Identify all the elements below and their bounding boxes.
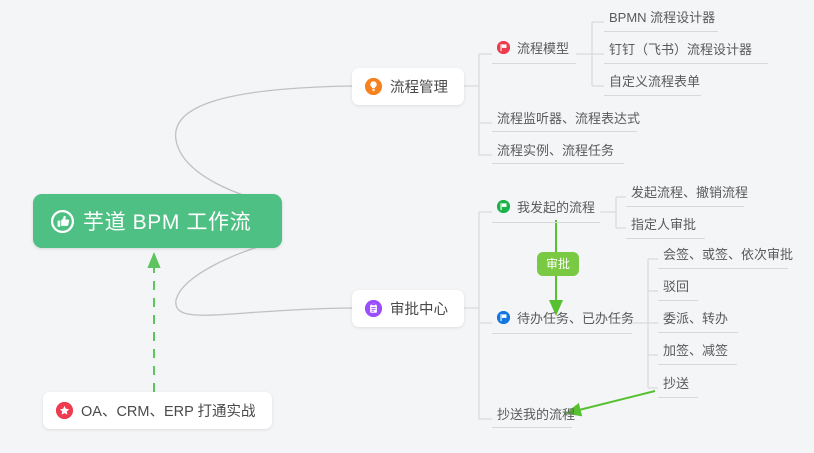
node-underline [658, 300, 698, 301]
node-process-model[interactable]: 流程模型 [492, 38, 579, 62]
mindmap-canvas: 芋道 BPM 工作流 流程管理 审批中心 [0, 0, 814, 453]
node-underline [492, 63, 576, 64]
integration-card-label: OA、CRM、ERP 打通实战 [81, 400, 256, 421]
node-underline [492, 131, 637, 132]
flag-icon [497, 41, 510, 54]
star-icon [56, 402, 73, 419]
node-bpmn-designer[interactable]: BPMN 流程设计器 [604, 7, 725, 31]
thumbs-up-icon [51, 210, 74, 233]
lightbulb-icon [365, 78, 382, 95]
flag-icon [497, 311, 510, 324]
node-dingtalk-designer[interactable]: 钉钉（飞书）流程设计器 [604, 39, 762, 63]
node-label: 钉钉（飞书）流程设计器 [609, 39, 752, 58]
node-label: 抄送 [663, 373, 689, 392]
node-start-cancel-process[interactable]: 发起流程、撤销流程 [626, 182, 758, 206]
node-underline [626, 206, 744, 207]
node-underline [626, 238, 705, 239]
node-my-started-process[interactable]: 我发起的流程 [492, 197, 605, 221]
root-label: 芋道 BPM 工作流 [83, 206, 251, 236]
node-delegate-transfer[interactable]: 委派、转办 [658, 308, 738, 332]
connector-root-to-process-management [176, 86, 352, 205]
node-add-remove-sign[interactable]: 加签、减签 [658, 340, 738, 364]
node-custom-form[interactable]: 自定义流程表单 [604, 71, 710, 95]
node-label: 会签、或签、依次审批 [663, 244, 793, 263]
branch-process-management[interactable]: 流程管理 [352, 68, 464, 105]
node-label: 流程监听器、流程表达式 [497, 108, 640, 127]
node-label: 自定义流程表单 [609, 71, 700, 90]
clipboard-icon [365, 300, 382, 317]
integration-card[interactable]: OA、CRM、ERP 打通实战 [43, 392, 272, 429]
branch-label: 审批中心 [390, 298, 448, 319]
branch-label: 流程管理 [390, 76, 448, 97]
node-underline [658, 332, 738, 333]
node-underline [658, 268, 788, 269]
node-cc[interactable]: 抄送 [658, 373, 699, 397]
node-underline [604, 31, 718, 32]
node-underline [492, 333, 632, 334]
node-label: BPMN 流程设计器 [609, 7, 715, 26]
node-underline [658, 364, 737, 365]
node-process-listener[interactable]: 流程监听器、流程表达式 [492, 108, 650, 132]
root-node[interactable]: 芋道 BPM 工作流 [33, 194, 282, 248]
flag-icon [497, 200, 510, 213]
node-todo-done-tasks[interactable]: 待办任务、已办任务 [492, 308, 644, 332]
node-label: 抄送我的流程 [497, 404, 575, 423]
node-process-instance[interactable]: 流程实例、流程任务 [492, 140, 624, 164]
node-label: 待办任务、已办任务 [517, 308, 634, 327]
node-underline [492, 222, 600, 223]
node-label: 委派、转办 [663, 308, 728, 327]
node-cc-my-process[interactable]: 抄送我的流程 [492, 404, 585, 428]
node-underline [604, 63, 768, 64]
node-label: 我发起的流程 [517, 197, 595, 216]
node-label: 驳回 [663, 276, 689, 295]
node-label: 指定人审批 [631, 214, 696, 233]
node-label: 流程实例、流程任务 [497, 140, 614, 159]
node-label: 加签、减签 [663, 340, 728, 359]
connector-root-to-approval-center [176, 240, 352, 315]
branch-approval-center[interactable]: 审批中心 [352, 290, 464, 327]
approval-badge[interactable]: 审批 [537, 252, 579, 276]
node-underline [492, 163, 624, 164]
node-underline [492, 427, 572, 428]
node-countersign[interactable]: 会签、或签、依次审批 [658, 244, 803, 268]
node-label: 流程模型 [517, 38, 569, 57]
node-label: 发起流程、撤销流程 [631, 182, 748, 201]
node-underline [658, 397, 698, 398]
node-assignee-approval[interactable]: 指定人审批 [626, 214, 706, 238]
node-underline [604, 95, 701, 96]
node-reject[interactable]: 驳回 [658, 276, 699, 300]
